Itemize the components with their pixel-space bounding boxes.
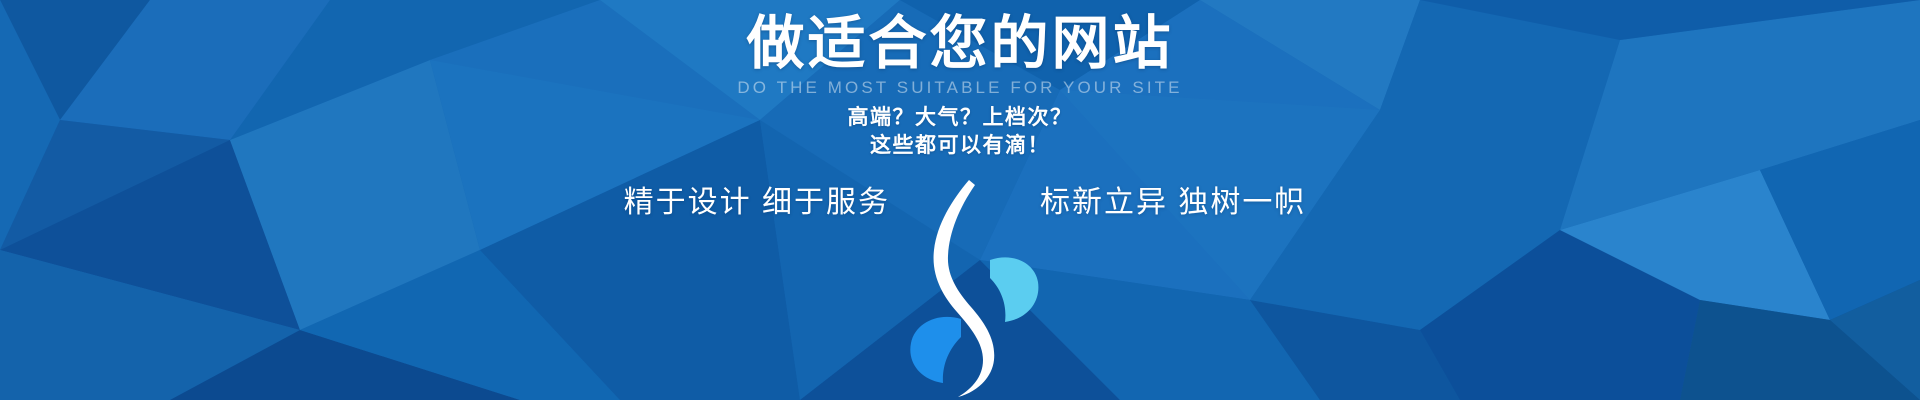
page-subtitle-english: DO THE MOST SUITABLE FOR YOUR SITE <box>0 78 1920 98</box>
headline-block: 做适合您的网站 DO THE MOST SUITABLE FOR YOUR SI… <box>0 12 1920 98</box>
tagline-left: 精于设计 细于服务 <box>470 182 890 224</box>
brand-logo <box>895 178 1045 400</box>
middle-line-2: 这些都可以有滴！ <box>0 132 1920 160</box>
promo-banner: 做适合您的网站 DO THE MOST SUITABLE FOR YOUR SI… <box>0 0 1920 400</box>
logo-leaf-upper-icon <box>990 257 1038 322</box>
middle-text-block: 高端？大气？上档次？ 这些都可以有滴！ <box>0 104 1920 160</box>
middle-line-1: 高端？大气？上档次？ <box>0 104 1920 132</box>
page-title: 做适合您的网站 <box>0 12 1920 76</box>
tagline-right: 标新立异 独树一帜 <box>1040 182 1460 224</box>
logo-leaf-lower-icon <box>910 317 961 383</box>
